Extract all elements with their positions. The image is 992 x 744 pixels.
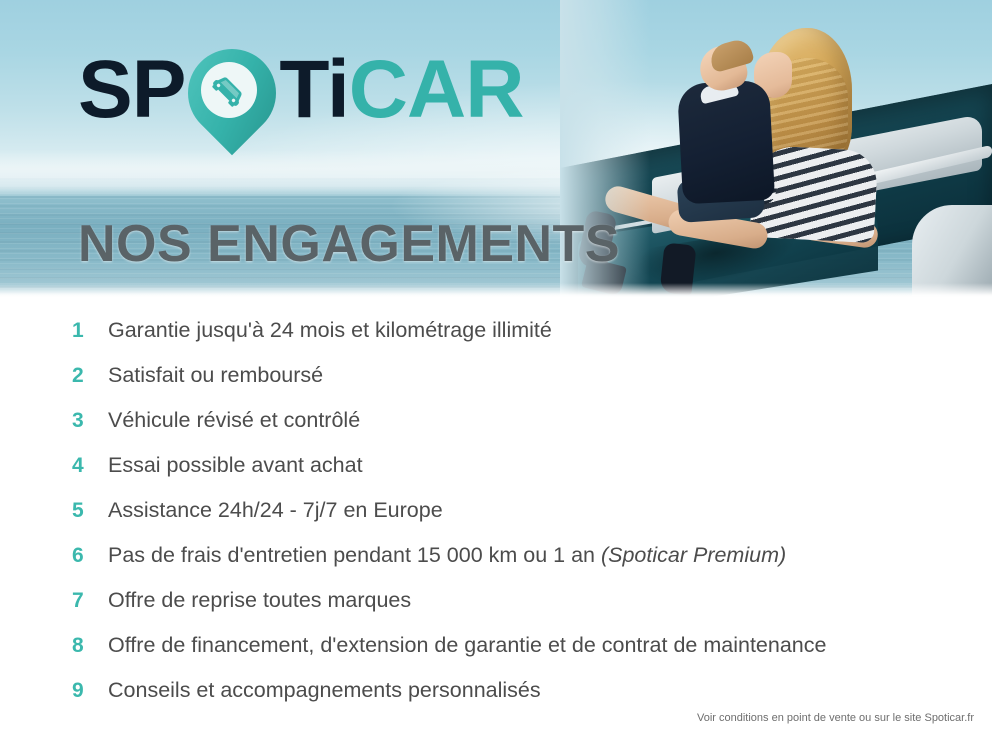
page-title: NOS ENGAGEMENTS (78, 214, 620, 274)
item-number: 8 (72, 634, 108, 658)
map-pin-car-icon (185, 46, 279, 134)
item-number: 5 (72, 499, 108, 523)
item-label: Pas de frais d'entretien pendant 15 000 … (108, 543, 786, 568)
list-item: 1 Garantie jusqu'à 24 mois et kilométrag… (0, 318, 992, 363)
item-number: 4 (72, 454, 108, 478)
item-label: Offre de financement, d'extension de gar… (108, 633, 826, 658)
boy-hair (707, 37, 755, 74)
item-label: Conseils et accompagnements personnalisé… (108, 678, 541, 703)
logo-text-car: CAR (349, 46, 524, 134)
hero-banner: SP Ti CAR NOS ENGAG (0, 0, 992, 297)
hero-bottom-fade (0, 283, 992, 297)
item-label: Garantie jusqu'à 24 mois et kilométrage … (108, 318, 552, 343)
item-label: Satisfait ou remboursé (108, 363, 323, 388)
commitments-list: 1 Garantie jusqu'à 24 mois et kilométrag… (0, 318, 992, 723)
spoticar-logo[interactable]: SP Ti CAR (78, 46, 523, 134)
logo-text-sp: SP (78, 46, 185, 134)
list-item: 3 Véhicule révisé et contrôlé (0, 408, 992, 453)
hero-photo (560, 0, 992, 297)
spoticar-commitments-page: SP Ti CAR NOS ENGAG (0, 0, 992, 744)
item-number: 7 (72, 589, 108, 613)
item-number: 1 (72, 319, 108, 343)
item-label: Véhicule révisé et contrôlé (108, 408, 360, 433)
item-label: Essai possible avant achat (108, 453, 363, 478)
item-number: 3 (72, 409, 108, 433)
item-number: 2 (72, 364, 108, 388)
list-item: 8 Offre de financement, d'extension de g… (0, 633, 992, 678)
item-label: Offre de reprise toutes marques (108, 588, 411, 613)
logo-text-ti: Ti (279, 46, 348, 134)
legal-note: Voir conditions en point de vente ou sur… (697, 712, 974, 724)
list-item: 4 Essai possible avant achat (0, 453, 992, 498)
item-number: 9 (72, 679, 108, 703)
item-label: Assistance 24h/24 - 7j/7 en Europe (108, 498, 443, 523)
list-item: 7 Offre de reprise toutes marques (0, 588, 992, 633)
item-number: 6 (72, 544, 108, 568)
list-item: 6 Pas de frais d'entretien pendant 15 00… (0, 543, 992, 588)
car-glyph (207, 68, 251, 112)
list-item: 2 Satisfait ou remboursé (0, 363, 992, 408)
list-item: 5 Assistance 24h/24 - 7j/7 en Europe (0, 498, 992, 543)
